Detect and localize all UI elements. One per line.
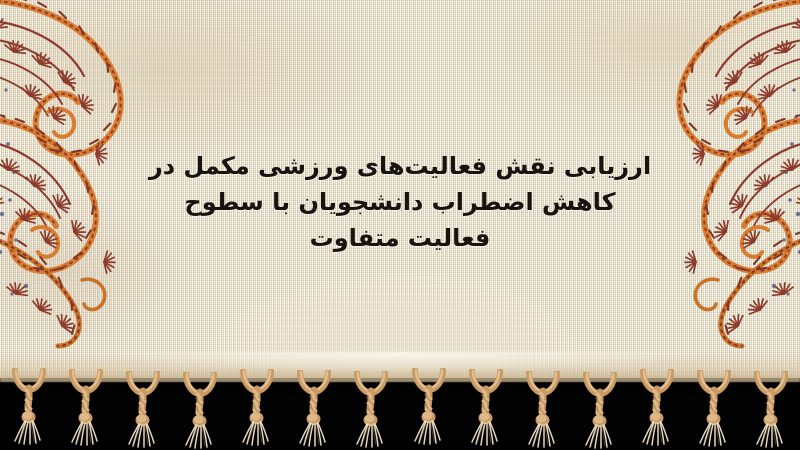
tassel: [240, 369, 274, 447]
tassel: [126, 371, 160, 449]
paisley-motif-left: [0, 0, 236, 354]
tassel: [526, 371, 560, 449]
title-card: ارزیابی نقش فعالیت‌های ورزشی مکمل در کاه…: [0, 0, 800, 450]
tassel-fringe: [0, 370, 800, 450]
tassel: [297, 370, 331, 448]
tassel: [640, 369, 674, 447]
tassel: [754, 371, 788, 449]
tassel: [69, 369, 103, 447]
tassel: [12, 368, 46, 446]
tassel: [697, 370, 731, 448]
tassel: [583, 372, 617, 450]
tassel: [183, 372, 217, 450]
paisley-motif-right: [564, 0, 800, 354]
textile-cloth: ارزیابی نقش فعالیت‌های ورزشی مکمل در کاه…: [0, 0, 800, 378]
tassel: [412, 368, 446, 446]
tassel: [354, 371, 388, 449]
tassel: [469, 369, 503, 447]
